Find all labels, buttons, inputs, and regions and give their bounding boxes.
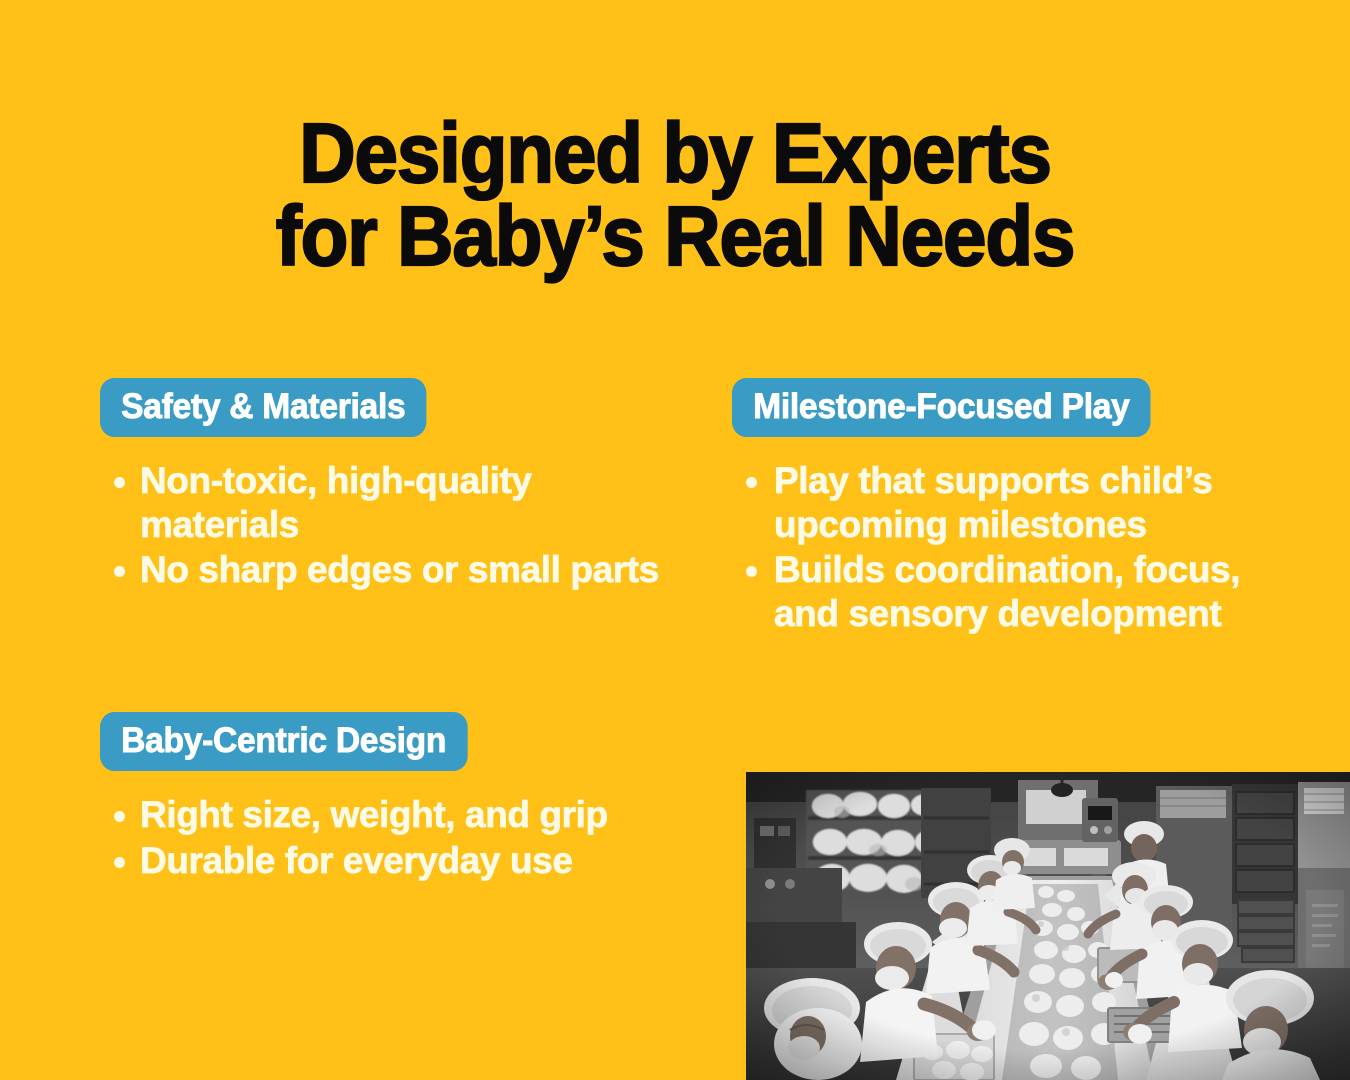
feature-block-safety-materials: Safety & Materials Non-toxic, high-quali…: [100, 378, 700, 594]
list-item: Builds coordination, focus, and sensory …: [732, 548, 1312, 635]
title-line-1: Designed by Experts: [47, 112, 1303, 195]
badge-baby-centric-design: Baby-Centric Design: [100, 712, 467, 771]
bullet-list-milestone-focused-play: Play that supports child’s upcoming mile…: [732, 459, 1312, 636]
title-line-2: for Baby’s Real Needs: [47, 195, 1303, 278]
feature-block-baby-centric-design: Baby-Centric Design Right size, weight, …: [100, 712, 700, 884]
list-item: Play that supports child’s upcoming mile…: [732, 459, 1312, 546]
list-item: Durable for everyday use: [100, 839, 700, 883]
badge-safety-materials: Safety & Materials: [100, 378, 427, 437]
poster-canvas: Designed by Experts for Baby’s Real Need…: [0, 0, 1350, 1080]
feature-block-milestone-focused-play: Milestone-Focused Play Play that support…: [732, 378, 1312, 638]
factory-production-line-photo: [746, 772, 1350, 1080]
factory-photo-illustration: [746, 772, 1350, 1080]
list-item: Non-toxic, high-quality materials: [100, 459, 700, 546]
page-title: Designed by Experts for Baby’s Real Need…: [0, 112, 1350, 278]
badge-milestone-focused-play: Milestone-Focused Play: [732, 378, 1151, 437]
list-item: No sharp edges or small parts: [100, 548, 700, 592]
bullet-list-safety-materials: Non-toxic, high-quality materials No sha…: [100, 459, 700, 592]
list-item: Right size, weight, and grip: [100, 793, 700, 837]
bullet-list-baby-centric-design: Right size, weight, and grip Durable for…: [100, 793, 700, 882]
